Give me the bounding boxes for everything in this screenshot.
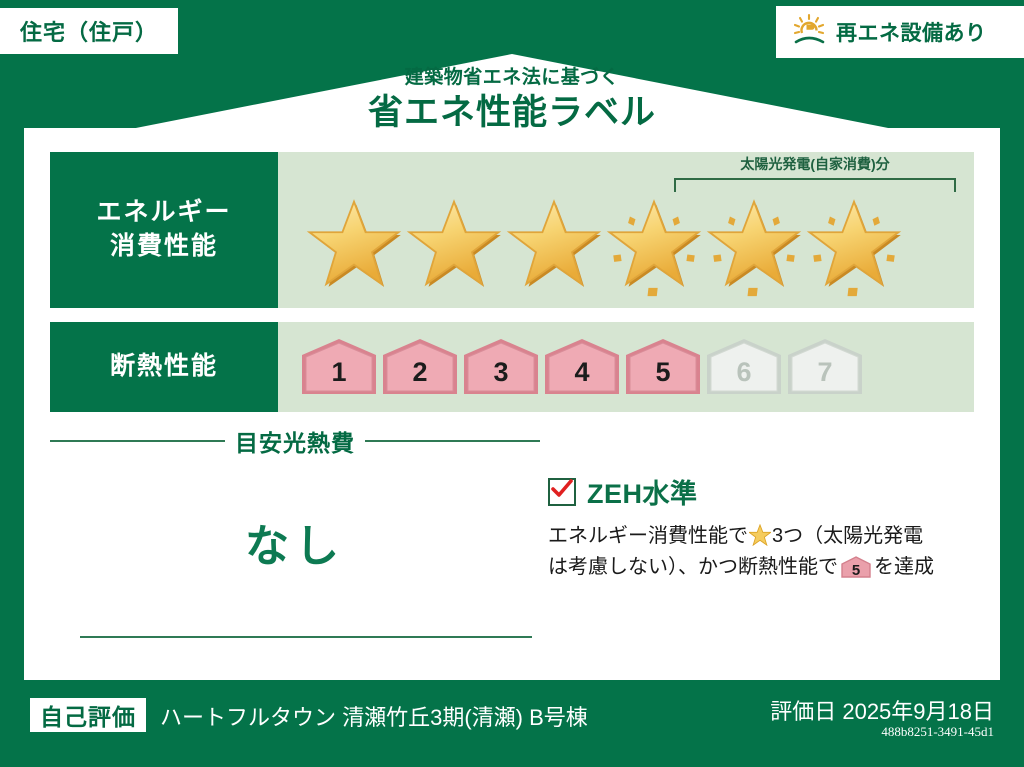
- utility-cost-heading-text: 目安光熱費: [235, 424, 355, 458]
- insulation-level-value: 4: [574, 357, 589, 396]
- insulation-level-value: 1: [331, 357, 346, 396]
- zeh-section: ZEH水準 エネルギー消費性能で 3つ（太陽光発電 は考慮しない）、かつ断熱性能…: [548, 472, 978, 583]
- renewable-equipment-chip: 再エネ設備あり: [776, 6, 1024, 58]
- insulation-level-value: 6: [736, 357, 751, 396]
- solar-bracket: [674, 178, 956, 192]
- solar-sun-icon: [792, 13, 828, 52]
- insulation-row-label: 断熱性能: [50, 322, 278, 412]
- energy-performance-row: エネルギー 消費性能 太陽光発電(自家消費)分: [50, 152, 974, 308]
- insulation-performance-row: 断熱性能 1 2 3: [50, 322, 974, 412]
- insulation-level-6: 6: [705, 338, 783, 396]
- energy-star-3: [504, 192, 604, 300]
- heading-rule-left: [50, 440, 225, 442]
- utility-cost-bottom-rule: [80, 636, 532, 638]
- insulation-level-scale: 1 2 3 4: [300, 338, 864, 396]
- insulation-level-value: 7: [817, 357, 832, 396]
- insulation-row-label-text: 断熱性能: [110, 350, 218, 384]
- utility-cost-section: 目安光熱費 なし: [50, 424, 540, 574]
- zeh-title: ZEH水準: [587, 472, 698, 511]
- zeh-description: エネルギー消費性能で 3つ（太陽光発電 は考慮しない）、かつ断熱性能で 5 を達…: [548, 521, 978, 583]
- energy-performance-label: 建築物省エネ法に基づく 省エネ性能ラベル 住宅（住戸） 再エネ設備あり: [0, 0, 1024, 767]
- zeh-desc-part3: を達成: [874, 556, 934, 578]
- insulation-level-value: 3: [493, 357, 508, 396]
- zeh-checkbox[interactable]: [548, 478, 576, 506]
- insulation-row-body: 1 2 3 4: [278, 322, 974, 412]
- energy-star-1: [304, 192, 404, 300]
- insulation-level-7: 7: [786, 338, 864, 396]
- energy-star-6: [804, 192, 904, 300]
- document-id: 488b8251-3491-45d1: [881, 724, 994, 740]
- utility-cost-value: なし: [50, 510, 540, 574]
- heading-rule-right: [365, 440, 540, 442]
- house-type-chip: 住宅（住戸）: [0, 8, 178, 54]
- energy-row-label-line1: エネルギー: [96, 196, 231, 230]
- title-main: 省エネ性能ラベル: [24, 94, 1000, 133]
- insulation-level-4: 4: [543, 338, 621, 396]
- insulation-level-2: 2: [381, 338, 459, 396]
- insulation-level-5: 5: [624, 338, 702, 396]
- energy-star-rating: [304, 192, 904, 300]
- insulation-level-value: 2: [412, 357, 427, 396]
- energy-row-body: 太陽光発電(自家消費)分: [278, 152, 974, 308]
- insulation-level-value: 5: [655, 357, 670, 396]
- inline-star-icon: [749, 524, 771, 546]
- energy-star-5: [704, 192, 804, 300]
- energy-star-4: [604, 192, 704, 300]
- solar-bracket-caption: 太陽光発電(自家消費)分: [678, 154, 952, 174]
- energy-row-label: エネルギー 消費性能: [50, 152, 278, 308]
- red-check-icon: [551, 479, 573, 504]
- zeh-desc-star-count: 3つ（太陽光発電: [772, 525, 923, 547]
- zeh-heading: ZEH水準: [548, 472, 978, 511]
- property-name: ハートフルタウン 清瀬竹丘3期(清瀬) B号棟: [160, 700, 588, 732]
- utility-cost-heading: 目安光熱費: [50, 424, 540, 458]
- title-subtitle: 建築物省エネ法に基づく: [24, 68, 1000, 87]
- renewable-chip-label: 再エネ設備あり: [836, 17, 987, 47]
- insulation-level-3: 3: [462, 338, 540, 396]
- energy-row-label-line2: 消費性能: [110, 230, 218, 264]
- inline-house-badge-value: 5: [841, 563, 871, 578]
- label-card: エネルギー 消費性能 太陽光発電(自家消費)分: [24, 128, 1000, 680]
- zeh-desc-part2: は考慮しない）、かつ断熱性能で: [548, 556, 838, 578]
- energy-star-2: [404, 192, 504, 300]
- inline-house-badge: 5: [841, 556, 871, 578]
- zeh-desc-part1: エネルギー消費性能で: [548, 525, 748, 547]
- evaluation-date: 評価日 2025年9月18日: [770, 694, 994, 726]
- evaluation-type-chip: 自己評価: [30, 698, 146, 732]
- footer-band: 自己評価 ハートフルタウン 清瀬竹丘3期(清瀬) B号棟 評価日 2025年9月…: [0, 680, 1024, 767]
- insulation-level-1: 1: [300, 338, 378, 396]
